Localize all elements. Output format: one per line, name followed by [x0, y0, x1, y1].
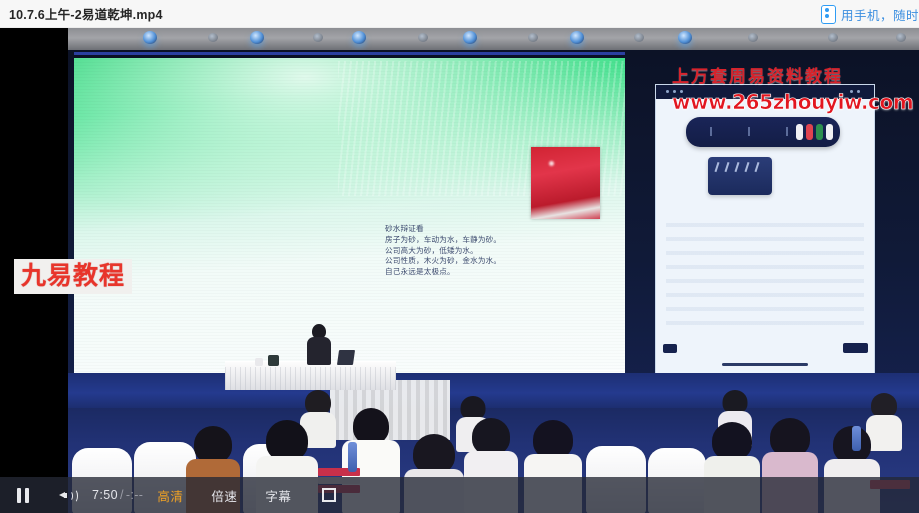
pause-icon: [17, 488, 29, 503]
water-bottle: [852, 426, 861, 451]
title-bar: 10.7.6上午-2易道乾坤.mp4 用手机，随时: [0, 0, 919, 28]
mobile-hint-label: 用手机，随时: [841, 5, 919, 24]
tablet-content-card: [708, 157, 772, 195]
subtitle-button[interactable]: 字幕: [251, 477, 305, 513]
fullscreen-button[interactable]: [307, 477, 351, 513]
watermark-title: 上万套周易资料教程: [672, 66, 913, 88]
slide-heading: 砂水辩证看: [385, 224, 501, 234]
projection-screen: [74, 52, 625, 375]
tablet-on-table: [337, 350, 355, 365]
cup-dark: [268, 355, 279, 366]
playback-speed-button[interactable]: 倍速: [197, 477, 251, 513]
pause-button[interactable]: [0, 477, 46, 513]
brand-stamp: 九易教程: [14, 259, 132, 294]
player-controls: 7:50/-:-- 高清 倍速 字幕: [0, 477, 919, 513]
duration: -:--: [126, 488, 144, 502]
presenter-figure: [306, 324, 332, 366]
video-player-window: 10.7.6上午-2易道乾坤.mp4 用手机，随时: [0, 0, 919, 513]
quality-button[interactable]: 高清: [143, 477, 197, 513]
water-bottle: [348, 442, 357, 472]
phone-icon: [821, 5, 836, 24]
tablet-badge-right: [843, 343, 868, 353]
time-display: 7:50/-:--: [92, 488, 143, 502]
tablet-home-indicator: [722, 363, 808, 366]
mobile-hint-group[interactable]: 用手机，随时: [821, 0, 919, 28]
tablet-text-rows: [666, 215, 864, 325]
slide-line-1: 房子为砂，车动为水，车静为砂。: [385, 235, 501, 245]
watermark: 上万套周易资料教程 www.265zhouyiw.com: [672, 66, 913, 114]
tablet-badge-left: [663, 344, 677, 353]
page-title: 10.7.6上午-2易道乾坤.mp4: [9, 4, 163, 23]
slide-line-2: 公司高大为砂，低矮为水。: [385, 246, 501, 256]
slide-line-3: 公司性质，木火为砂，金水为水。: [385, 256, 501, 266]
secondary-display-panel: [655, 84, 875, 374]
slide-line-4: 自己永远是太极点。: [385, 267, 501, 277]
tablet-toolbar-pill: [686, 117, 840, 147]
slide-photo-thumbnail: [531, 147, 600, 219]
slide-text-block: 砂水辩证看 房子为砂，车动为水，车静为砂。 公司高大为砂，低矮为水。 公司性质，…: [385, 224, 501, 277]
volume-icon: [59, 487, 78, 503]
controls-spacer: [351, 477, 919, 513]
watermark-url: www.265zhouyiw.com: [672, 90, 913, 114]
cup-white: [255, 358, 263, 366]
volume-button[interactable]: [46, 477, 90, 513]
video-surface[interactable]: 砂水辩证看 房子为砂，车动为水，车静为砂。 公司高大为砂，低矮为水。 公司性质，…: [0, 28, 919, 513]
stage-skirt: [68, 373, 919, 413]
time-separator: /: [120, 488, 124, 502]
ceiling-strip: [68, 28, 919, 50]
current-time: 7:50: [92, 488, 118, 502]
fullscreen-icon: [322, 488, 336, 502]
